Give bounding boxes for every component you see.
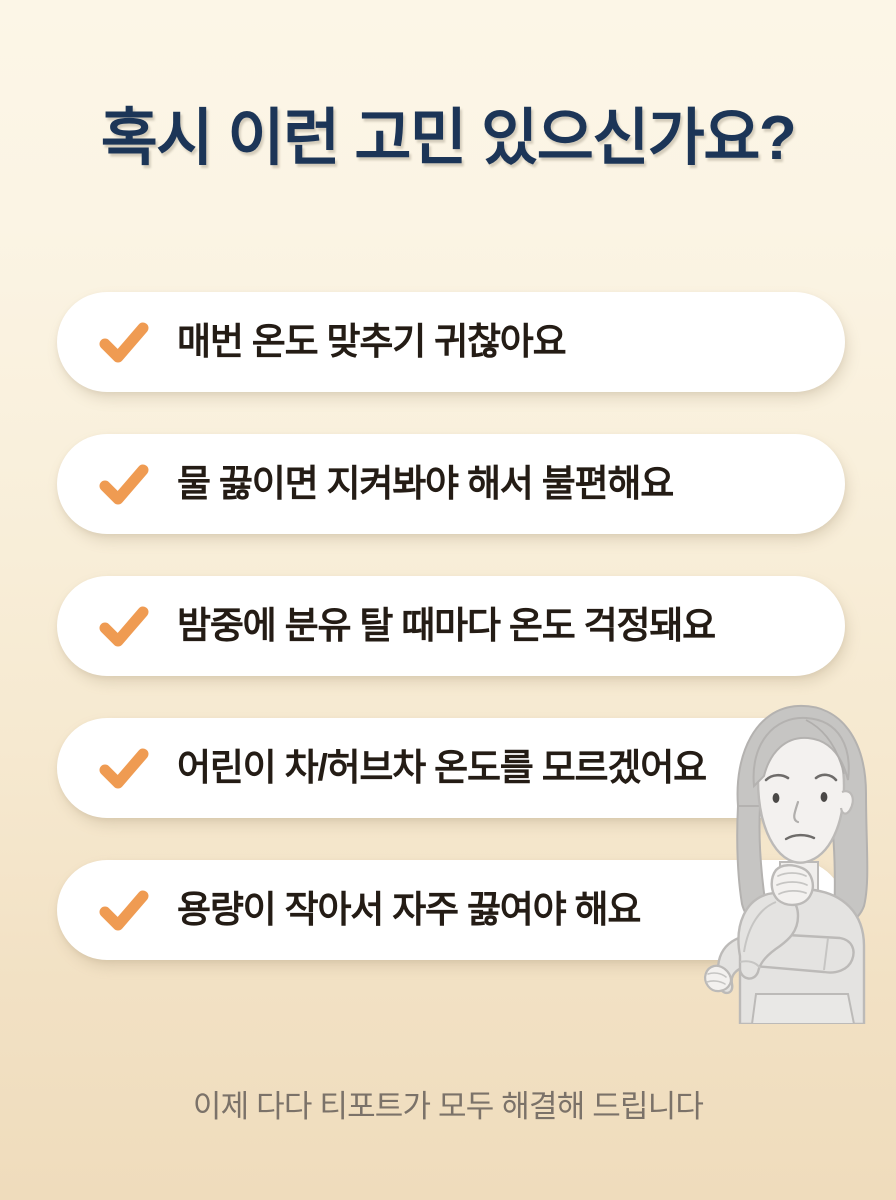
list-item[interactable]: 어린이 차/허브차 온도를 모르겠어요 bbox=[57, 718, 845, 818]
check-icon bbox=[93, 595, 155, 657]
list-item[interactable]: 용량이 작아서 자주 끓여야 해요 bbox=[57, 860, 845, 960]
check-icon bbox=[93, 879, 155, 941]
check-icon bbox=[93, 737, 155, 799]
check-icon bbox=[93, 311, 155, 373]
list-item-label: 밤중에 분유 탈 때마다 온도 걱정돼요 bbox=[177, 606, 845, 647]
list-item-label: 용량이 작아서 자주 끓여야 해요 bbox=[177, 890, 845, 931]
list-item[interactable]: 매번 온도 맞추기 귀찮아요 bbox=[57, 292, 845, 392]
list-item[interactable]: 물 끓이면 지켜봐야 해서 불편해요 bbox=[57, 434, 845, 534]
footer-text: 이제 다다 티포트가 모두 해결해 드립니다 bbox=[0, 1081, 896, 1126]
poster-canvas: 혹시 이런 고민 있으신가요? 매번 온도 맞추기 귀찮아요 물 끓이면 지켜봐… bbox=[0, 0, 896, 1200]
concern-list: 매번 온도 맞추기 귀찮아요 물 끓이면 지켜봐야 해서 불편해요 밤중에 분유… bbox=[57, 292, 845, 1002]
list-item[interactable]: 밤중에 분유 탈 때마다 온도 걱정돼요 bbox=[57, 576, 845, 676]
page-title: 혹시 이런 고민 있으신가요? bbox=[0, 103, 896, 174]
check-icon bbox=[93, 453, 155, 515]
list-item-label: 물 끓이면 지켜봐야 해서 불편해요 bbox=[177, 464, 845, 505]
list-item-label: 어린이 차/허브차 온도를 모르겠어요 bbox=[177, 748, 845, 789]
list-item-label: 매번 온도 맞추기 귀찮아요 bbox=[177, 322, 845, 363]
